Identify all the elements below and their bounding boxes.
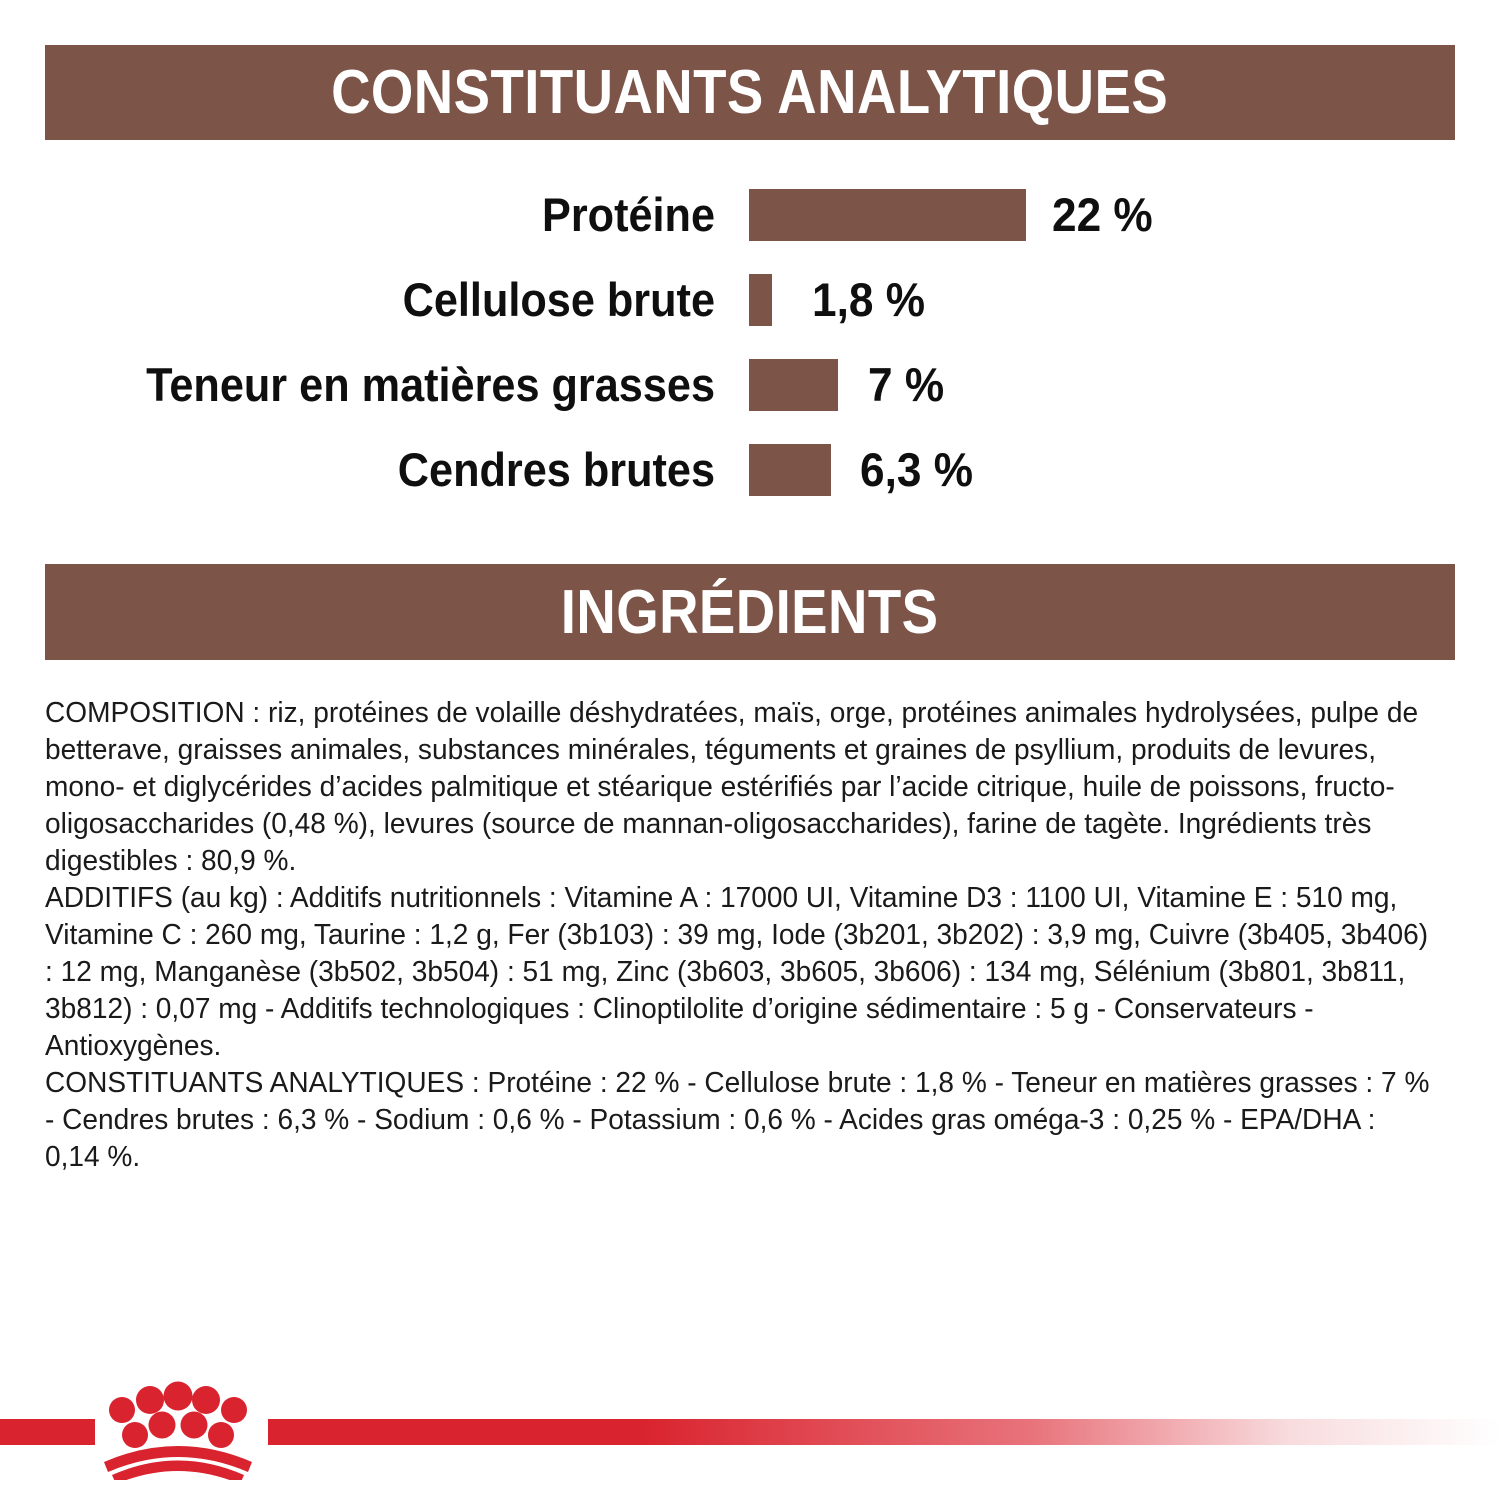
analytical-constituents-chart: Protéine 22 % Cellulose brute 1,8 % Tene… [0,172,1500,512]
royal-canin-crown-logo [98,1380,258,1480]
nutrient-row: Cellulose brute 1,8 % [0,257,1500,342]
nutrient-bar-teneur-matieres-grasses [749,359,838,411]
analytical-constituents-header-band: CONSTITUANTS ANALYTIQUES [45,45,1455,140]
ingredients-additives-paragraph: ADDITIFS (au kg) : Additifs nutritionnel… [45,880,1436,1065]
nutrient-value-teneur-matieres-grasses: 7 % [868,357,944,412]
nutrient-row: Teneur en matières grasses 7 % [0,342,1500,427]
nutrient-value-proteine: 22 % [1052,187,1153,242]
ingredients-title: INGRÉDIENTS [561,577,939,648]
nutrient-label-cendres-brutes: Cendres brutes [57,442,715,497]
analytical-constituents-title: CONSTITUANTS ANALYTIQUES [331,57,1168,128]
footer-rule-right [268,1419,1500,1445]
nutrient-row: Cendres brutes 6,3 % [0,427,1500,512]
nutrient-bar-cellulose-brute [749,274,772,326]
nutrient-label-proteine: Protéine [57,187,715,242]
nutrient-bar-wrap [749,172,1026,257]
nutrient-row: Protéine 22 % [0,172,1500,257]
ingredients-composition-paragraph: COMPOSITION : riz, protéines de volaille… [45,695,1436,880]
nutrient-value-cellulose-brute: 1,8 % [812,272,925,327]
footer [0,1380,1500,1500]
nutrient-bar-wrap [749,257,772,342]
ingredients-analytical-constituents-paragraph: CONSTITUANTS ANALYTIQUES : Protéine : 22… [45,1065,1436,1176]
nutrient-label-teneur-matieres-grasses: Teneur en matières grasses [57,357,715,412]
nutrient-bar-cendres-brutes [749,444,831,496]
nutrient-bar-wrap [749,342,838,427]
nutrient-bar-wrap [749,427,831,512]
nutrient-value-cendres-brutes: 6,3 % [860,442,973,497]
ingredients-body: COMPOSITION : riz, protéines de volaille… [45,695,1457,1176]
nutrient-label-cellulose-brute: Cellulose brute [57,272,715,327]
ingredients-header-band: INGRÉDIENTS [45,564,1455,660]
footer-rule-left [0,1419,95,1445]
nutrient-bar-proteine [749,189,1026,241]
